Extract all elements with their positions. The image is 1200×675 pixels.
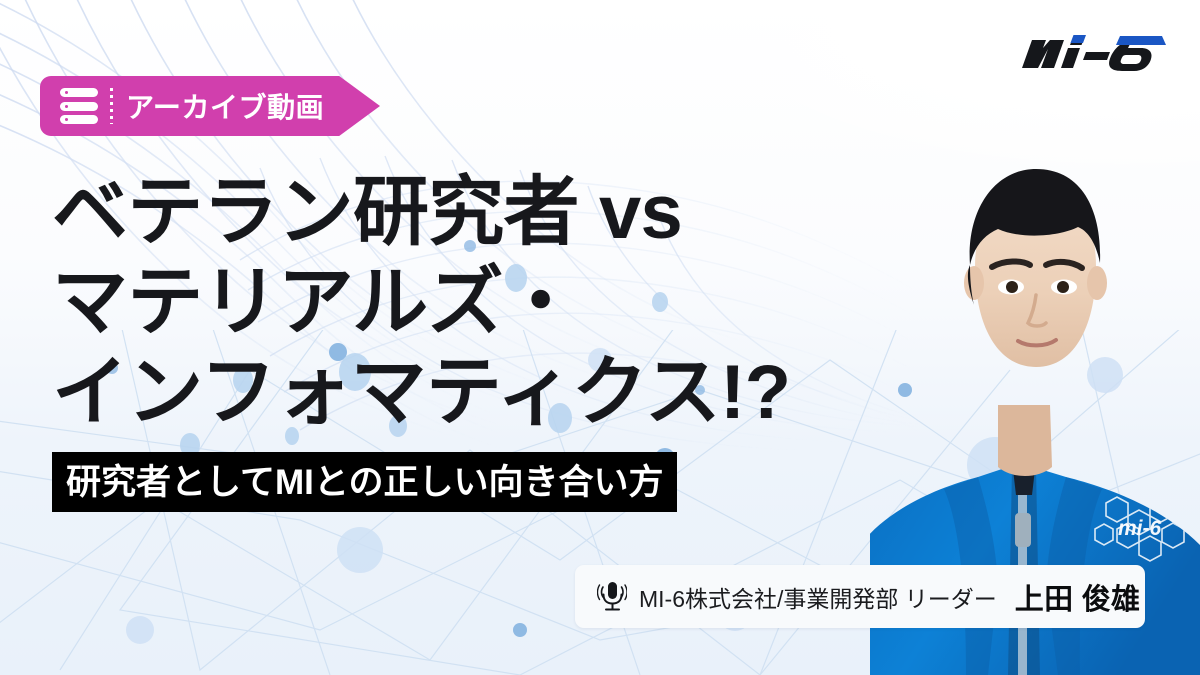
headline-line-2: マテリアルズ・	[52, 258, 892, 348]
speaker-card: MI-6株式会社/事業開発部 リーダー 上田 俊雄	[575, 565, 1145, 628]
headline: ベテラン研究者 vs マテリアルズ・ インフォマティクス!?	[52, 168, 892, 438]
thumbnail-canvas: アーカイブ動画 ベテラン研究者 vs マテリアルズ・ インフォマティクス!? 研…	[0, 0, 1200, 675]
microphone-icon	[597, 580, 627, 614]
speaker-affiliation: MI-6株式会社/事業開発部 リーダー	[639, 580, 997, 614]
subtitle-text: 研究者としてMIとの正しい向き合い方	[66, 465, 663, 500]
server-stack-icon	[60, 88, 98, 124]
subtitle-bar: 研究者としてMIとの正しい向き合い方	[52, 452, 677, 512]
headline-line-1: ベテラン研究者 vs	[52, 168, 892, 258]
mi6-logo	[1016, 24, 1172, 82]
archive-badge-label: アーカイブ動画	[126, 76, 324, 136]
dotted-divider-icon	[110, 88, 113, 124]
headline-line-3: インフォマティクス!?	[52, 348, 892, 438]
speaker-name: 上田 俊雄	[1015, 576, 1141, 618]
svg-text:mi-6: mi-6	[1118, 517, 1162, 540]
